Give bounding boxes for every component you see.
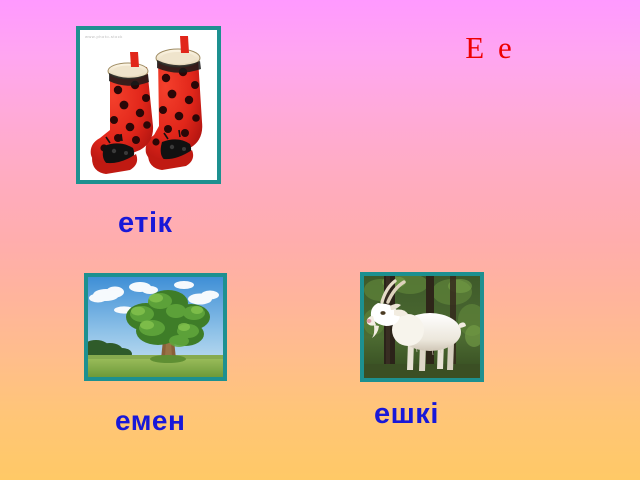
white-goat-illustration	[364, 276, 480, 378]
photo-watermark: www.photo-stock	[85, 34, 123, 39]
word-label-emen: емен	[115, 405, 185, 437]
white-goat-photo	[364, 276, 480, 378]
boots-illustration	[80, 30, 217, 180]
picture-frame-etik: www.photo-stock	[76, 26, 221, 184]
word-label-etik: етік	[118, 207, 173, 240]
picture-frame-eshki	[360, 272, 484, 382]
red-ladybug-rain-boots-photo: www.photo-stock	[80, 30, 217, 180]
picture-frame-emen	[84, 273, 227, 381]
alphabet-slide: Е е	[0, 0, 640, 480]
page-title: Е е	[420, 30, 560, 66]
oak-tree-illustration	[88, 277, 223, 377]
word-label-eshki: ешкі	[374, 398, 439, 431]
oak-tree-photo	[88, 277, 223, 377]
